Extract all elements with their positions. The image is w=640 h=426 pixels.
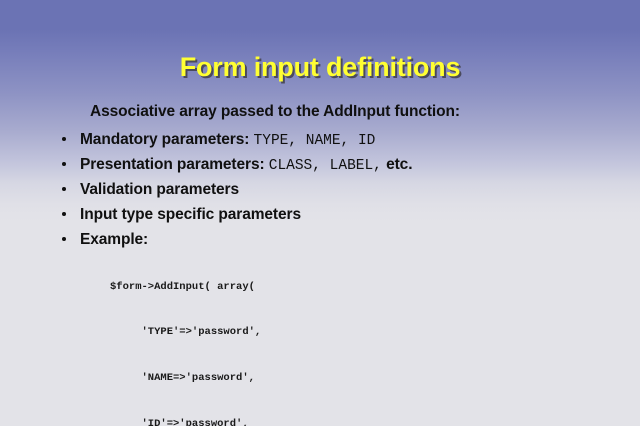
bullet-dot-icon <box>62 137 66 141</box>
code-line: 'TYPE'=>'password', <box>110 325 501 340</box>
bullet-list: Mandatory parameters: TYPE, NAME, ID Pre… <box>58 127 618 252</box>
code-line: 'ID'=>'password', <box>110 417 501 426</box>
slide-subtitle: Associative array passed to the AddInput… <box>90 103 460 121</box>
list-item: Presentation parameters: CLASS, LABEL, e… <box>58 152 618 177</box>
bullet-dot-icon <box>62 212 66 216</box>
list-item: Mandatory parameters: TYPE, NAME, ID <box>58 127 618 152</box>
code-block: $form->AddInput( array( 'TYPE'=>'passwor… <box>110 249 501 426</box>
bullet-mono-params: CLASS, LABEL, <box>269 158 382 174</box>
bullet-dot-icon <box>62 187 66 191</box>
bullet-tail: etc. <box>386 156 412 173</box>
code-line: $form->AddInput( array( <box>110 280 501 295</box>
bullet-label: Validation parameters <box>80 181 239 198</box>
code-line: 'NAME=>'password', <box>110 371 501 386</box>
presentation-slide: Form input definitions Associative array… <box>0 0 640 426</box>
bullet-dot-icon <box>62 162 66 166</box>
bullet-label: Mandatory parameters: <box>80 131 249 148</box>
bullet-mono-params: TYPE, NAME, ID <box>254 133 376 149</box>
slide-title: Form input definitions <box>0 52 640 83</box>
bullet-dot-icon <box>62 237 66 241</box>
bullet-label: Example: <box>80 231 148 248</box>
bullet-label: Presentation parameters: <box>80 156 265 173</box>
list-item: Validation parameters <box>58 177 618 202</box>
bullet-label: Input type specific parameters <box>80 206 301 223</box>
list-item: Input type specific parameters <box>58 202 618 227</box>
